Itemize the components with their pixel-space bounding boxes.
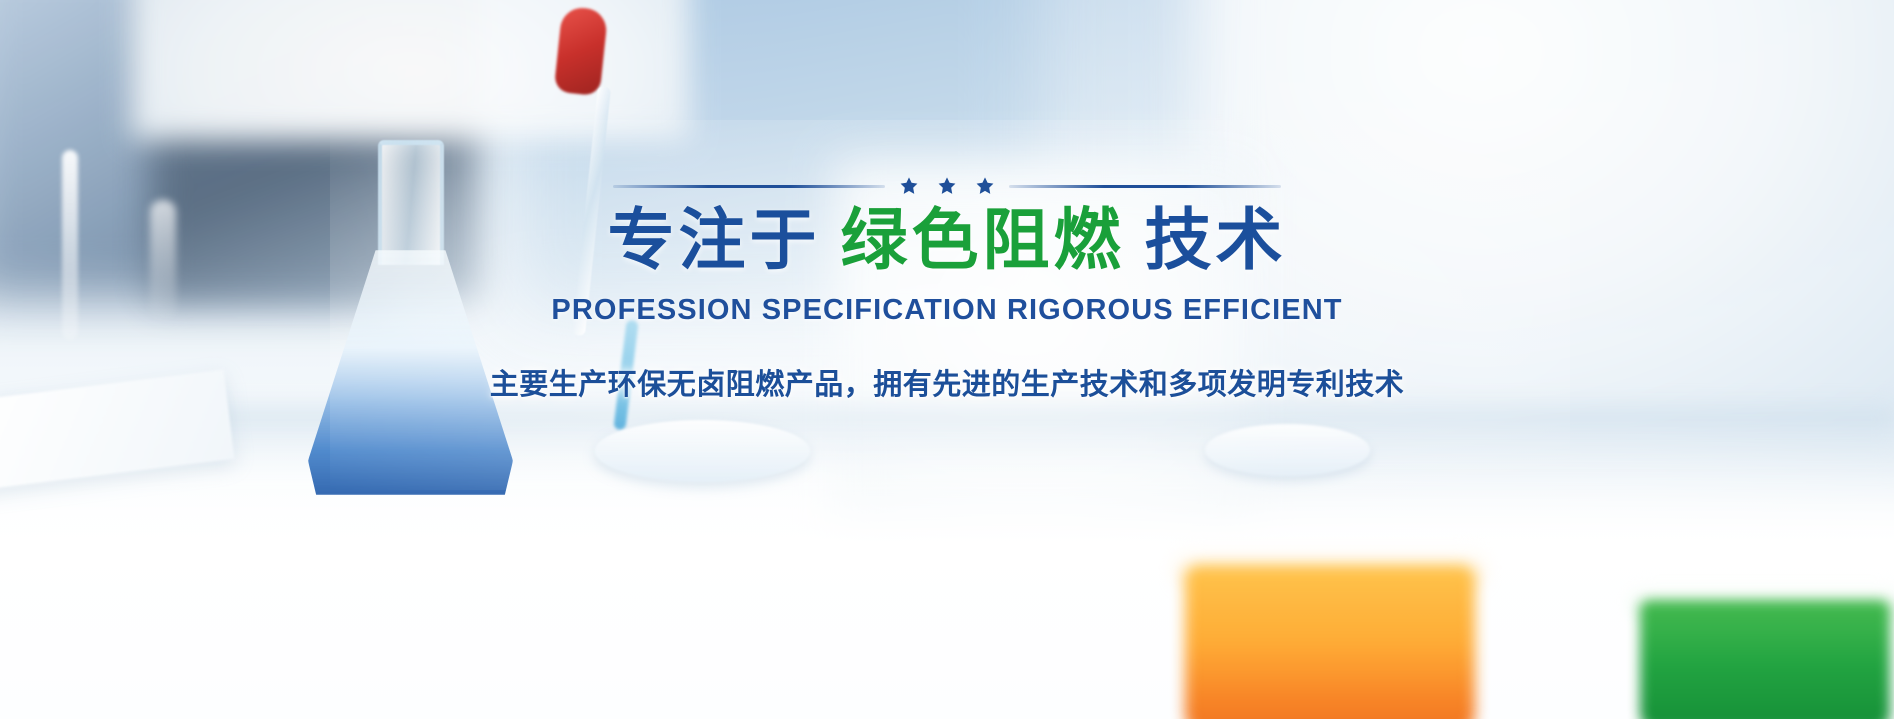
page-title: 专注于绿色阻燃技术 bbox=[608, 207, 1287, 274]
star-icon bbox=[937, 176, 957, 196]
tagline-chinese: 主要生产环保无卤阻燃产品，拥有先进的生产技术和多项发明专利技术 bbox=[490, 361, 1405, 403]
headline-part-1: 专注于 bbox=[608, 203, 821, 278]
subtitle-english: PROFESSION SPECIFICATION RIGOROUS EFFICI… bbox=[551, 294, 1342, 327]
star-icon bbox=[975, 176, 995, 196]
headline-part-2: 绿色阻燃 bbox=[841, 203, 1125, 278]
decorative-divider bbox=[613, 176, 1281, 196]
banner-content: 专注于绿色阻燃技术 PROFESSION SPECIFICATION RIGOR… bbox=[0, 0, 1894, 719]
divider-line-right bbox=[1009, 185, 1281, 188]
headline-part-3: 技术 bbox=[1145, 203, 1287, 278]
divider-line-left bbox=[613, 185, 885, 188]
star-group bbox=[899, 176, 995, 196]
star-icon bbox=[899, 176, 919, 196]
hero-banner: 专注于绿色阻燃技术 PROFESSION SPECIFICATION RIGOR… bbox=[0, 0, 1894, 719]
